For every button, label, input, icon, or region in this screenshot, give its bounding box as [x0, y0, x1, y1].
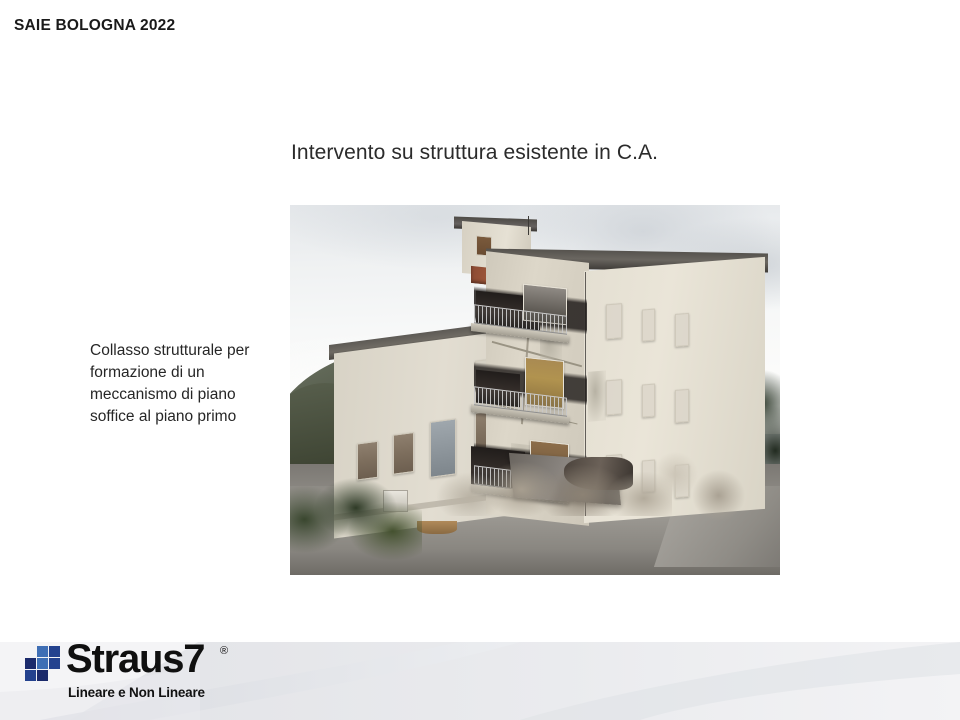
straus7-tagline: Lineare e Non Lineare — [68, 685, 205, 700]
facade-window — [642, 384, 655, 418]
vegetation — [290, 471, 422, 567]
photo-frame — [290, 205, 780, 575]
registered-trademark-icon: ® — [220, 645, 228, 657]
facade-window — [606, 304, 622, 341]
straus7-grid-icon — [24, 645, 62, 685]
rubble-pile — [437, 453, 672, 516]
page-title: Intervento su struttura esistente in C.A… — [291, 141, 658, 165]
spalled-plaster-patch — [588, 370, 606, 422]
facade-window — [675, 313, 690, 347]
presentation-slide: SAIE BOLOGNA 2022 Intervento su struttur… — [0, 0, 960, 720]
wing-planter — [417, 521, 456, 534]
facade-window — [675, 389, 690, 423]
photo-caption: Collasso strutturale per formazione di u… — [90, 340, 255, 428]
rubble-pile — [643, 442, 751, 523]
antenna — [528, 216, 529, 235]
straus7-wordmark: Straus7 — [66, 637, 204, 682]
straus7-logo: Straus7 ® Lineare e Non Lineare — [24, 643, 234, 705]
damaged-building-photo — [290, 205, 780, 575]
facade-window — [642, 309, 655, 343]
wing-window — [393, 432, 414, 475]
facade-window — [606, 379, 622, 416]
slide-header: SAIE BOLOGNA 2022 — [14, 17, 175, 35]
